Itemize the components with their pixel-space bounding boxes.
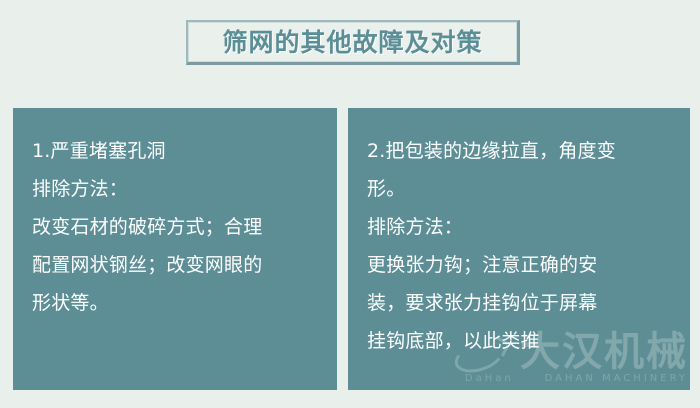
panel-fault-1-line: 配置网状钢丝；改变网眼的 xyxy=(32,246,323,284)
panel-fault-1-line: 形状等。 xyxy=(32,284,323,322)
panel-fault-2-line: 排除方法： xyxy=(367,208,676,246)
panel-fault-2-body: 2.把包装的边缘拉直，角度变 形。 排除方法： 更换张力钩；注意正确的安 装，要… xyxy=(348,108,690,360)
panel-fault-2-line: 形。 xyxy=(367,170,676,208)
watermark-en-left: DaHan xyxy=(465,373,514,384)
page-title: 筛网的其他故障及对策 xyxy=(222,30,482,55)
slide-canvas: 筛网的其他故障及对策 1.严重堵塞孔洞 排除方法： 改变石材的破碎方式；合理 配… xyxy=(0,0,700,408)
panel-fault-1-body: 1.严重堵塞孔洞 排除方法： 改变石材的破碎方式；合理 配置网状钢丝；改变网眼的… xyxy=(13,108,337,322)
panel-fault-1-line: 排除方法： xyxy=(32,170,323,208)
title-banner: 筛网的其他故障及对策 xyxy=(186,20,520,65)
panel-fault-1-line: 改变石材的破碎方式；合理 xyxy=(32,208,323,246)
panel-fault-2-line: 更换张力钩；注意正确的安 xyxy=(367,246,676,284)
panel-fault-2: 2.把包装的边缘拉直，角度变 形。 排除方法： 更换张力钩；注意正确的安 装，要… xyxy=(348,108,690,390)
watermark-en-right: DAHAN MACHINERY xyxy=(545,373,688,384)
panel-fault-2-line: 2.把包装的边缘拉直，角度变 xyxy=(367,132,676,170)
panel-fault-2-line: 装，要求张力挂钩位于屏幕 xyxy=(367,284,676,322)
panel-fault-1-line: 1.严重堵塞孔洞 xyxy=(32,132,323,170)
panel-fault-2-line: 挂钩底部，以此类推 xyxy=(367,322,676,360)
watermark-en-row: DaHan DAHAN MACHINERY xyxy=(450,373,688,384)
panel-fault-1: 1.严重堵塞孔洞 排除方法： 改变石材的破碎方式；合理 配置网状钢丝；改变网眼的… xyxy=(13,108,337,390)
